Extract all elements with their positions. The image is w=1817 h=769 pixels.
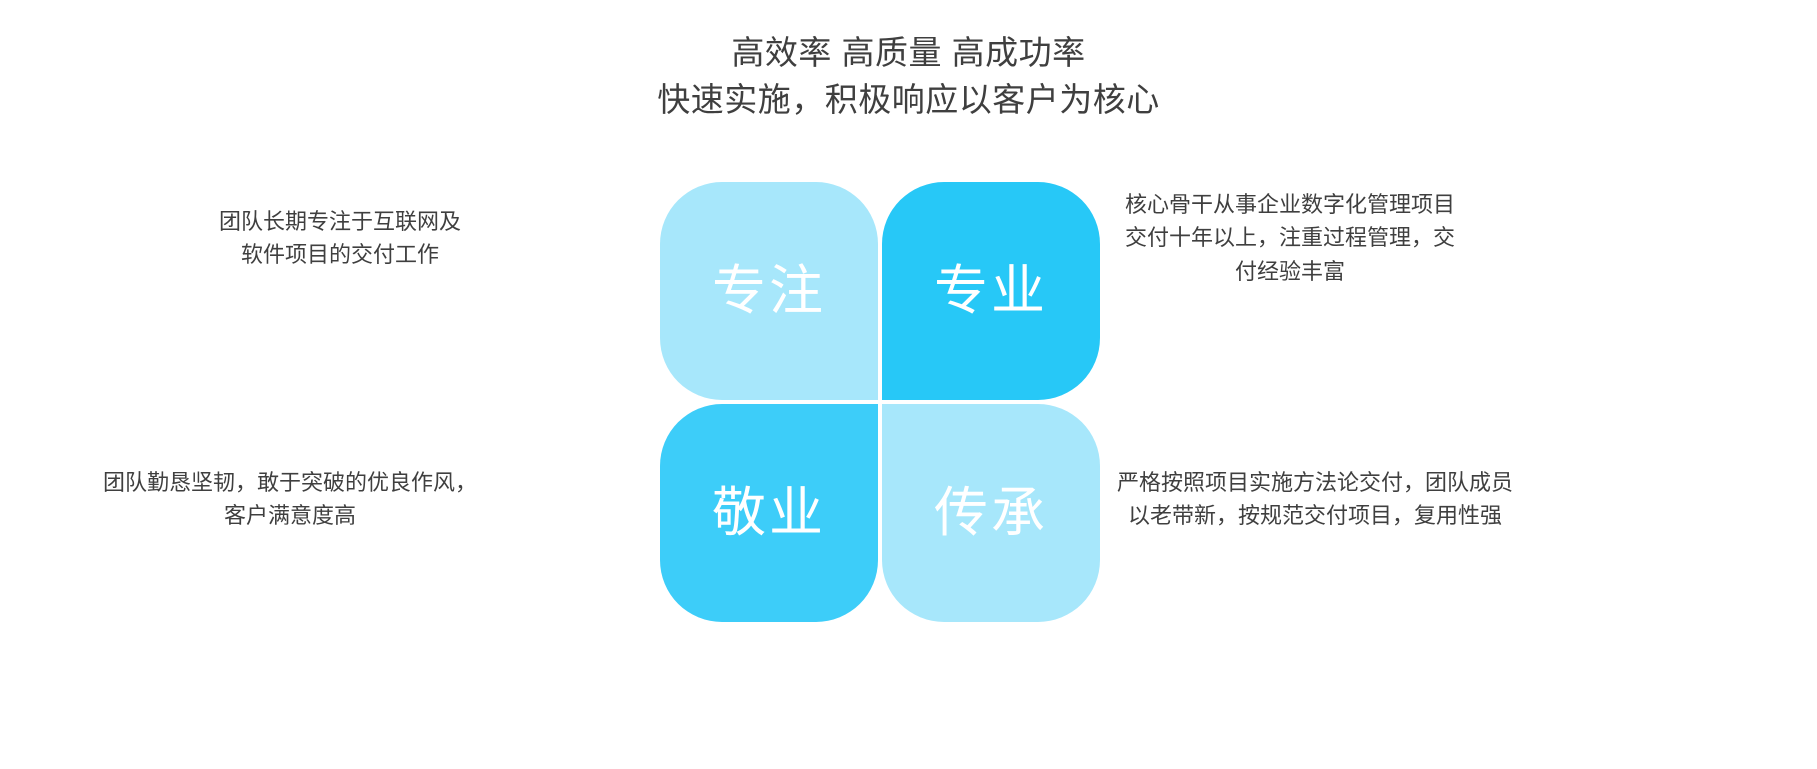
description-profession: 核心骨干从事企业数字化管理项目 交付十年以上，注重过程管理，交 付经验丰富 <box>1080 188 1500 288</box>
petal-profession-label: 专业 <box>934 264 1048 318</box>
slide-canvas: 高效率 高质量 高成功率 快速实施，积极响应以客户为核心 专注 专业 敬业 传承… <box>0 0 1817 769</box>
petal-profession[interactable]: 专业 <box>882 182 1100 400</box>
petal-dedication-label: 敬业 <box>712 486 826 540</box>
petal-heritage-label: 传承 <box>934 486 1048 540</box>
description-dedication: 团队勤恳坚韧，敢于突破的优良作风， 客户满意度高 <box>30 466 550 533</box>
petal-dedication[interactable]: 敬业 <box>660 404 878 622</box>
title-line-2: 快速实施，积极响应以客户为核心 <box>0 77 1817 124</box>
petal-focus[interactable]: 专注 <box>660 182 878 400</box>
four-petal-diagram: 专注 专业 敬业 传承 <box>660 182 1100 622</box>
description-focus: 团队长期专注于互联网及 软件项目的交付工作 <box>140 205 540 272</box>
page-title: 高效率 高质量 高成功率 快速实施，积极响应以客户为核心 <box>0 30 1817 124</box>
title-line-1: 高效率 高质量 高成功率 <box>0 30 1817 77</box>
petal-focus-label: 专注 <box>712 264 826 318</box>
description-heritage: 严格按照项目实施方法论交付，团队成员 以老带新，按规范交付项目，复用性强 <box>1060 466 1570 533</box>
